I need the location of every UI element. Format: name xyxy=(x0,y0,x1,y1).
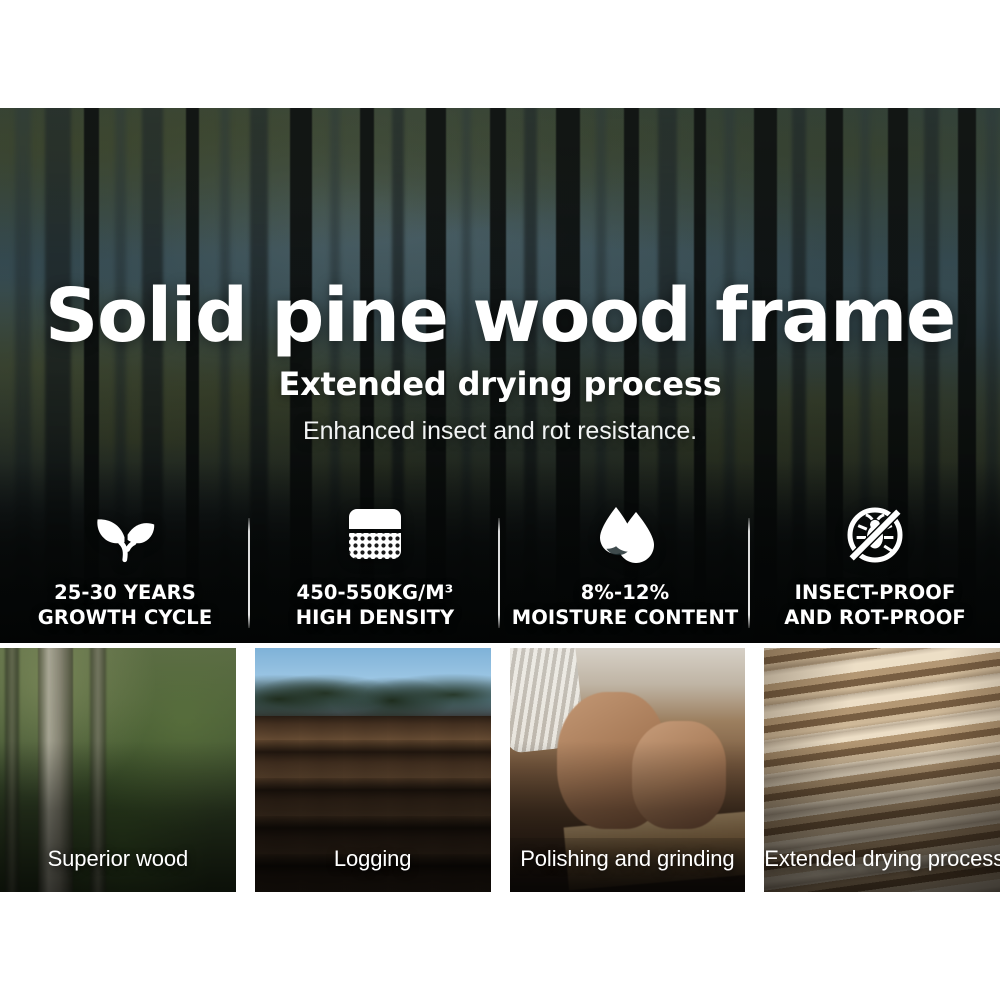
gallery-caption: Extended drying process xyxy=(764,846,1000,872)
gallery-item-extended-drying: Extended drying process xyxy=(764,648,1000,892)
feature-item-high-density: 450-550KG/M³ HIGH DENSITY xyxy=(250,504,500,630)
feature-label-line2: AND ROT-PROOF xyxy=(784,606,966,629)
feature-label-line2: GROWTH CYCLE xyxy=(38,606,213,629)
hero-tagline: Enhanced insect and rot resistance. xyxy=(0,416,1000,446)
gallery-item-superior-wood: Superior wood xyxy=(0,648,236,892)
gallery-caption: Polishing and grinding xyxy=(510,846,746,872)
hero-banner: Solid pine wood frame Extended drying pr… xyxy=(0,108,1000,643)
density-layers-icon xyxy=(345,504,405,566)
gallery-caption: Superior wood xyxy=(0,846,236,872)
hero-content: Solid pine wood frame Extended drying pr… xyxy=(0,108,1000,643)
hero-headline: Solid pine wood frame xyxy=(0,278,1000,354)
feature-item-insect-rot-proof: INSECT-PROOF AND ROT-PROOF xyxy=(750,504,1000,630)
process-gallery: Superior wood Logging Polishing and grin… xyxy=(0,648,1000,892)
feature-label: INSECT-PROOF AND ROT-PROOF xyxy=(784,580,966,630)
gallery-caption: Logging xyxy=(255,846,491,872)
no-insect-icon xyxy=(846,504,904,566)
gallery-item-polishing-grinding: Polishing and grinding xyxy=(510,648,746,892)
feature-label-line2: MOISTURE CONTENT xyxy=(512,606,739,629)
hero-subheadline: Extended drying process xyxy=(0,366,1000,402)
feature-label-line1: 450-550KG/M³ xyxy=(297,581,454,604)
water-droplets-icon xyxy=(594,504,656,566)
feature-item-growth-cycle: 25-30 YEARS GROWTH CYCLE xyxy=(0,504,250,630)
feature-item-moisture-content: 8%-12% MOISTURE CONTENT xyxy=(500,504,750,630)
feature-label: 450-550KG/M³ HIGH DENSITY xyxy=(296,580,454,630)
feature-label-line1: 8%-12% xyxy=(581,581,669,604)
feature-label-line2: HIGH DENSITY xyxy=(296,606,454,629)
leaf-sprout-icon xyxy=(94,504,156,566)
feature-label-line1: 25-30 YEARS xyxy=(54,581,196,604)
feature-label: 8%-12% MOISTURE CONTENT xyxy=(512,580,739,630)
feature-label-line1: INSECT-PROOF xyxy=(795,581,956,604)
feature-row: 25-30 YEARS GROWTH CYCLE xyxy=(0,504,1000,643)
infographic-page: Solid pine wood frame Extended drying pr… xyxy=(0,0,1000,1000)
gallery-item-logging: Logging xyxy=(255,648,491,892)
feature-label: 25-30 YEARS GROWTH CYCLE xyxy=(38,580,213,630)
